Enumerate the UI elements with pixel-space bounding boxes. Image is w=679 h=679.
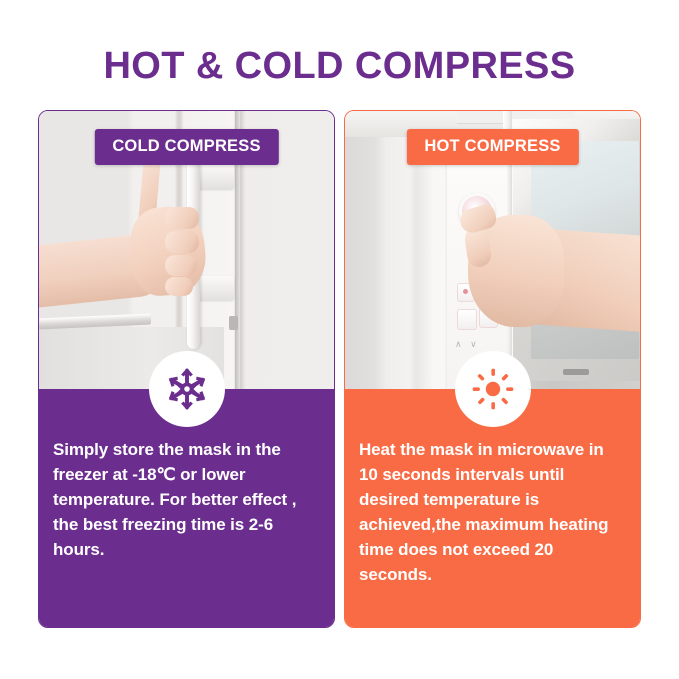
cold-compress-badge: COLD COMPRESS bbox=[94, 129, 278, 165]
hot-compress-photo: ∧ ∨ HOT COMPRESS bbox=[345, 111, 640, 389]
hot-compress-badge: HOT COMPRESS bbox=[406, 129, 578, 165]
sun-icon-circle bbox=[455, 351, 531, 427]
microwave-button-3[interactable] bbox=[457, 309, 477, 330]
page-title: HOT & COLD COMPRESS bbox=[0, 44, 679, 88]
refrigerator-handle-bracket-top bbox=[194, 165, 234, 189]
cold-compress-card: COLD COMPRESS bbox=[38, 110, 335, 628]
finger-tip bbox=[165, 277, 193, 296]
sun-icon bbox=[472, 368, 514, 410]
infographic-page: HOT & COLD COMPRESS COLD COMPRES bbox=[0, 0, 679, 679]
cold-compress-photo: COLD COMPRESS bbox=[39, 111, 334, 389]
compress-cards-container: COLD COMPRESS bbox=[38, 110, 641, 628]
microwave-button-indicator-1 bbox=[463, 289, 468, 294]
snowflake-icon bbox=[166, 368, 208, 410]
cold-compress-description: Simply store the mask in the freezer at … bbox=[53, 437, 320, 562]
microwave-arrow-keys[interactable]: ∧ ∨ bbox=[455, 339, 501, 351]
finger-ring bbox=[165, 231, 199, 253]
refrigerator-hinge-peg bbox=[229, 316, 238, 330]
refrigerator-handle-bracket-bottom bbox=[194, 276, 234, 300]
finger-middle bbox=[165, 207, 199, 229]
snowflake-icon-circle bbox=[149, 351, 225, 427]
hot-compress-card: ∧ ∨ HOT COMPRESS bbox=[344, 110, 641, 628]
hot-compress-description: Heat the mask in microwave in 10 seconds… bbox=[359, 437, 626, 587]
microwave-vent bbox=[563, 369, 589, 375]
finger-little bbox=[165, 255, 197, 276]
